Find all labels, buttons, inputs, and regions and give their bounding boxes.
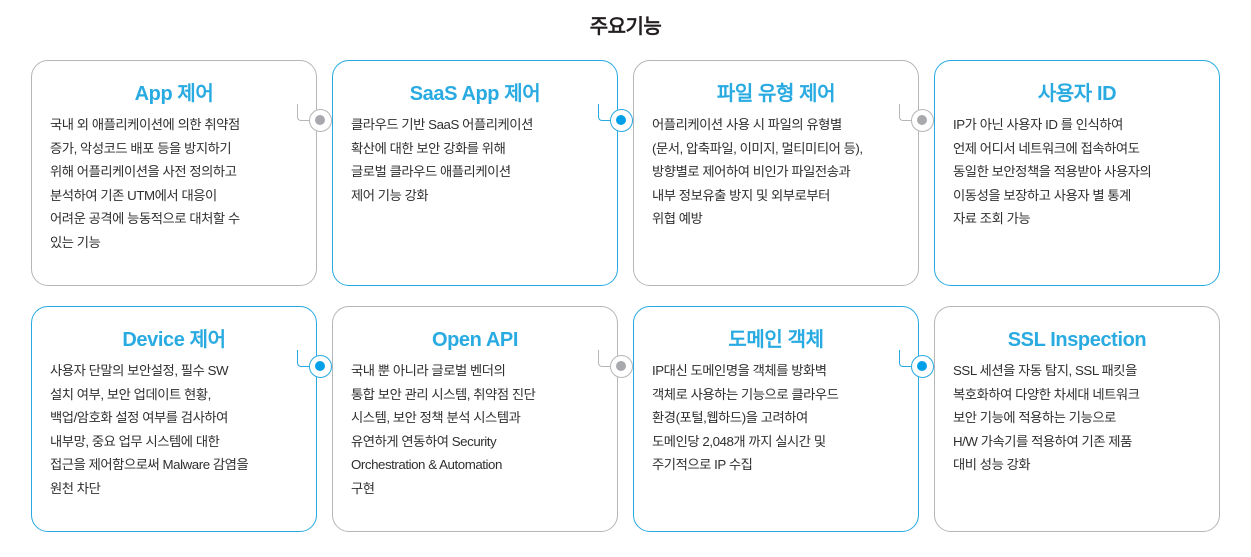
feature-card-domain-object[interactable]: 도메인 객체 IP대신 도메인명을 객체를 방화벽 객체로 사용하는 기능으로 … [633,306,919,532]
connector-dot-icon [610,109,633,132]
connector-saas-to-filetype [598,104,638,138]
feature-card-body: IP가 아닌 사용자 ID 를 인식하여 언제 어디서 네트워크에 접속하여도 … [953,113,1201,231]
feature-card-body: SSL 세션을 자동 탐지, SSL 패킷을 복호화하여 다양한 차세대 네트워… [953,359,1201,477]
feature-card-device-control[interactable]: Device 제어 사용자 단말의 보안설정, 필수 SW 설치 여부, 보안 … [31,306,317,532]
feature-card-file-type-control[interactable]: 파일 유형 제어 어플리케이션 사용 시 파일의 유형별 (문서, 압축파일, … [633,60,919,286]
feature-card-body: 국내 뿐 아니라 글로벌 벤더의 통합 보안 관리 시스템, 취약점 진단 시스… [351,359,599,501]
feature-card-body: 클라우드 기반 SaaS 어플리케이션 확산에 대한 보안 강화를 위해 글로벌… [351,113,599,207]
feature-card-title: 사용자 ID [935,81,1219,107]
connector-dot-core-icon [616,361,626,371]
connector-dot-core-icon [315,115,325,125]
connector-dot-icon [309,355,332,378]
connector-openapi-to-domain [598,350,638,384]
feature-card-saas-app-control[interactable]: SaaS App 제어 클라우드 기반 SaaS 어플리케이션 확산에 대한 보… [332,60,618,286]
feature-card-grid: App 제어 국내 외 애플리케이션에 의한 취약점 증가, 악성코드 배포 등… [0,60,1251,541]
feature-row-bottom: Device 제어 사용자 단말의 보안설정, 필수 SW 설치 여부, 보안 … [0,306,1251,541]
connector-dot-core-icon [315,361,325,371]
feature-card-title: App 제어 [32,81,316,107]
feature-card-open-api[interactable]: Open API 국내 뿐 아니라 글로벌 벤더의 통합 보안 관리 시스템, … [332,306,618,532]
feature-card-body: IP대신 도메인명을 객체를 방화벽 객체로 사용하는 기능으로 클라우드 환경… [652,359,900,477]
feature-card-app-control[interactable]: App 제어 국내 외 애플리케이션에 의한 취약점 증가, 악성코드 배포 등… [31,60,317,286]
feature-card-title: SaaS App 제어 [333,81,617,107]
connector-dot-icon [911,109,934,132]
connector-filetype-to-userid [899,104,939,138]
connector-dot-icon [309,109,332,132]
feature-card-body: 어플리케이션 사용 시 파일의 유형별 (문서, 압축파일, 이미지, 멀티미티… [652,113,900,231]
feature-row-top: App 제어 국내 외 애플리케이션에 의한 취약점 증가, 악성코드 배포 등… [0,60,1251,295]
connector-dot-core-icon [917,115,927,125]
feature-card-body: 사용자 단말의 보안설정, 필수 SW 설치 여부, 보안 업데이트 현황, 백… [50,359,298,501]
feature-card-body: 국내 외 애플리케이션에 의한 취약점 증가, 악성코드 배포 등을 방지하기 … [50,113,298,255]
feature-card-title: 파일 유형 제어 [634,81,918,107]
connector-dot-core-icon [616,115,626,125]
connector-domain-to-ssl [899,350,939,384]
connector-dot-core-icon [917,361,927,371]
feature-card-title: SSL Inspection [935,327,1219,353]
feature-card-title: Device 제어 [32,327,316,353]
feature-card-title: Open API [333,327,617,353]
connector-dot-icon [911,355,934,378]
page-title: 주요기능 [0,14,1251,40]
feature-card-title: 도메인 객체 [634,327,918,353]
feature-card-user-id[interactable]: 사용자 ID IP가 아닌 사용자 ID 를 인식하여 언제 어디서 네트워크에… [934,60,1220,286]
feature-card-ssl-inspection[interactable]: SSL Inspection SSL 세션을 자동 탐지, SSL 패킷을 복호… [934,306,1220,532]
connector-app-to-saas [297,104,337,138]
connector-dot-icon [610,355,633,378]
connector-device-to-openapi [297,350,337,384]
